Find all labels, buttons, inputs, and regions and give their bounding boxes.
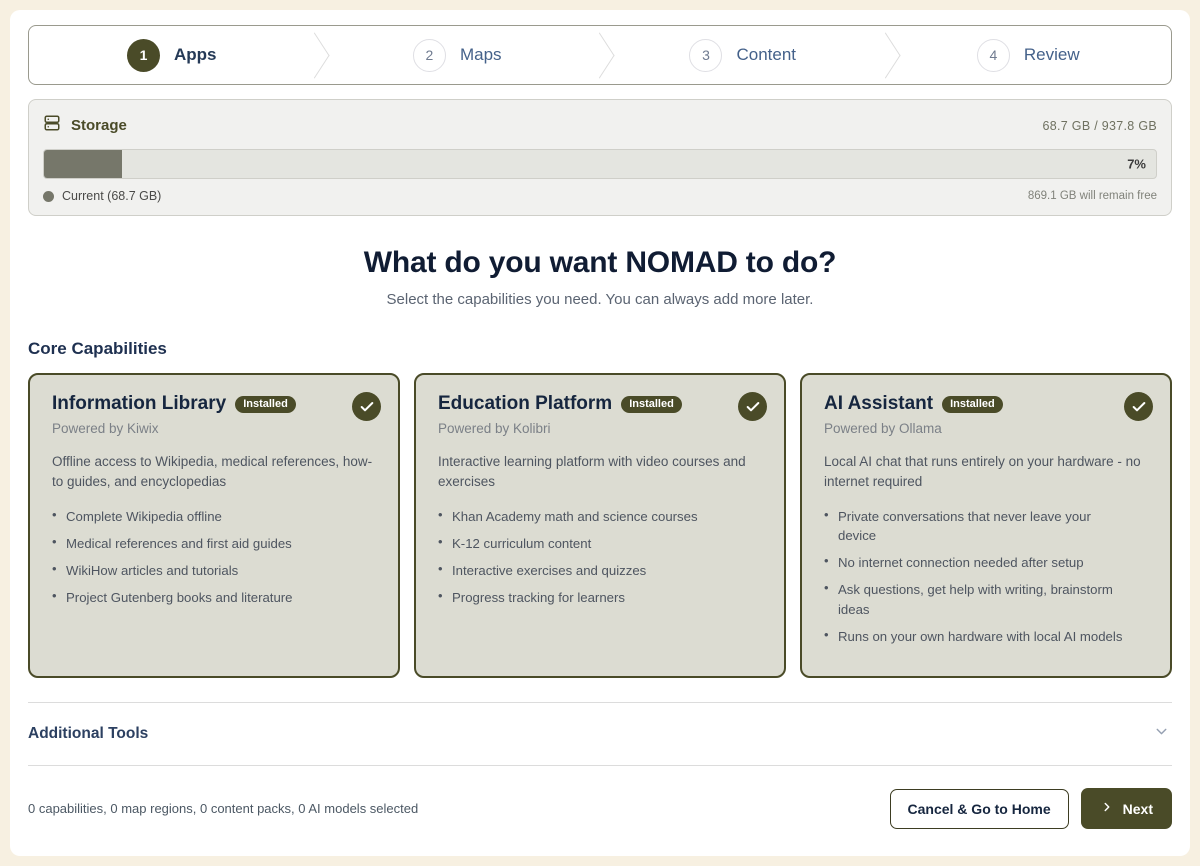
list-item: Complete Wikipedia offline xyxy=(52,507,352,526)
card-header: Education Platform Installed xyxy=(438,393,764,415)
wizard-footer: 0 capabilities, 0 map regions, 0 content… xyxy=(28,788,1172,829)
storage-free-label: 869.1 GB will remain free xyxy=(1028,190,1157,202)
storage-title-group: Storage xyxy=(43,114,127,137)
step-content[interactable]: 3 Content xyxy=(600,26,886,84)
storage-panel: Storage 68.7 GB / 937.8 GB 7% Current (6… xyxy=(28,99,1172,216)
selected-check-icon[interactable] xyxy=(738,392,767,421)
list-item: Interactive exercises and quizzes xyxy=(438,561,738,580)
list-item: Private conversations that never leave y… xyxy=(824,507,1124,545)
step-maps-number: 2 xyxy=(413,39,446,72)
card-header: AI Assistant Installed xyxy=(824,393,1150,415)
card-subtitle: Powered by Kiwix xyxy=(52,421,378,436)
card-subtitle: Powered by Ollama xyxy=(824,421,1150,436)
storage-title: Storage xyxy=(71,117,127,134)
card-title: Education Platform xyxy=(438,393,612,415)
card-description: Offline access to Wikipedia, medical ref… xyxy=(52,452,378,492)
status-badge: Installed xyxy=(942,396,1003,413)
accordion-additional-tools[interactable]: Additional Tools xyxy=(28,703,1172,766)
step-maps[interactable]: 2 Maps xyxy=(315,26,601,84)
card-title: AI Assistant xyxy=(824,393,933,415)
storage-progress-bar: 7% xyxy=(43,149,1157,179)
capability-card-information-library[interactable]: Information Library Installed Powered by… xyxy=(28,373,400,678)
selection-summary: 0 capabilities, 0 map regions, 0 content… xyxy=(28,801,418,816)
list-item: No internet connection needed after setu… xyxy=(824,553,1124,572)
status-badge: Installed xyxy=(235,396,296,413)
capability-card-ai-assistant[interactable]: AI Assistant Installed Powered by Ollama… xyxy=(800,373,1172,678)
app-window: 1 Apps 2 Maps 3 Content 4 Review xyxy=(10,10,1190,856)
card-description: Local AI chat that runs entirely on your… xyxy=(824,452,1150,492)
list-item: Progress tracking for learners xyxy=(438,588,738,607)
card-feature-list: Private conversations that never leave y… xyxy=(824,507,1150,646)
chevron-down-icon[interactable] xyxy=(1153,723,1170,745)
selected-check-icon[interactable] xyxy=(1124,392,1153,421)
storage-header: Storage 68.7 GB / 937.8 GB xyxy=(43,114,1157,137)
storage-capacity: 68.7 GB / 937.8 GB xyxy=(1043,119,1158,133)
step-apps[interactable]: 1 Apps xyxy=(29,26,315,84)
storage-legend-label: Current (68.7 GB) xyxy=(62,189,161,203)
cancel-button[interactable]: Cancel & Go to Home xyxy=(890,789,1069,829)
step-review-number: 4 xyxy=(977,39,1010,72)
page-title: What do you want NOMAD to do? xyxy=(28,246,1172,280)
capability-card-education-platform[interactable]: Education Platform Installed Powered by … xyxy=(414,373,786,678)
next-button[interactable]: Next xyxy=(1081,788,1172,829)
step-review[interactable]: 4 Review xyxy=(886,26,1172,84)
list-item: WikiHow articles and tutorials xyxy=(52,561,352,580)
wizard-content: 1 Apps 2 Maps 3 Content 4 Review xyxy=(28,25,1172,829)
list-item: Ask questions, get help with writing, br… xyxy=(824,580,1124,618)
wizard-stepper: 1 Apps 2 Maps 3 Content 4 Review xyxy=(28,25,1172,85)
step-review-label: Review xyxy=(1024,45,1080,65)
legend-dot-icon xyxy=(43,191,54,202)
step-apps-number: 1 xyxy=(127,39,160,72)
storage-legend: Current (68.7 GB) xyxy=(43,189,161,203)
section-heading-core-capabilities: Core Capabilities xyxy=(28,339,1172,359)
card-subtitle: Powered by Kolibri xyxy=(438,421,764,436)
card-description: Interactive learning platform with video… xyxy=(438,452,764,492)
database-icon xyxy=(43,114,61,137)
status-badge: Installed xyxy=(621,396,682,413)
list-item: Medical references and first aid guides xyxy=(52,534,352,553)
step-apps-label: Apps xyxy=(174,45,217,65)
capability-card-grid: Information Library Installed Powered by… xyxy=(28,373,1172,678)
storage-footer: Current (68.7 GB) 869.1 GB will remain f… xyxy=(43,189,1157,203)
step-content-label: Content xyxy=(736,45,796,65)
next-button-label: Next xyxy=(1123,801,1153,817)
card-feature-list: Complete Wikipedia offline Medical refer… xyxy=(52,507,378,608)
chevron-right-icon xyxy=(1100,800,1114,817)
card-header: Information Library Installed xyxy=(52,393,378,415)
card-title: Information Library xyxy=(52,393,226,415)
accordion-label: Additional Tools xyxy=(28,725,148,743)
step-content-number: 3 xyxy=(689,39,722,72)
storage-percent-label: 7% xyxy=(1127,157,1146,172)
list-item: Project Gutenberg books and literature xyxy=(52,588,352,607)
list-item: Runs on your own hardware with local AI … xyxy=(824,627,1124,646)
card-feature-list: Khan Academy math and science courses K-… xyxy=(438,507,764,608)
storage-progress-fill xyxy=(44,150,122,178)
footer-buttons: Cancel & Go to Home Next xyxy=(890,788,1173,829)
list-item: K-12 curriculum content xyxy=(438,534,738,553)
step-maps-label: Maps xyxy=(460,45,502,65)
page-subtitle: Select the capabilities you need. You ca… xyxy=(28,291,1172,308)
selected-check-icon[interactable] xyxy=(352,392,381,421)
list-item: Khan Academy math and science courses xyxy=(438,507,738,526)
